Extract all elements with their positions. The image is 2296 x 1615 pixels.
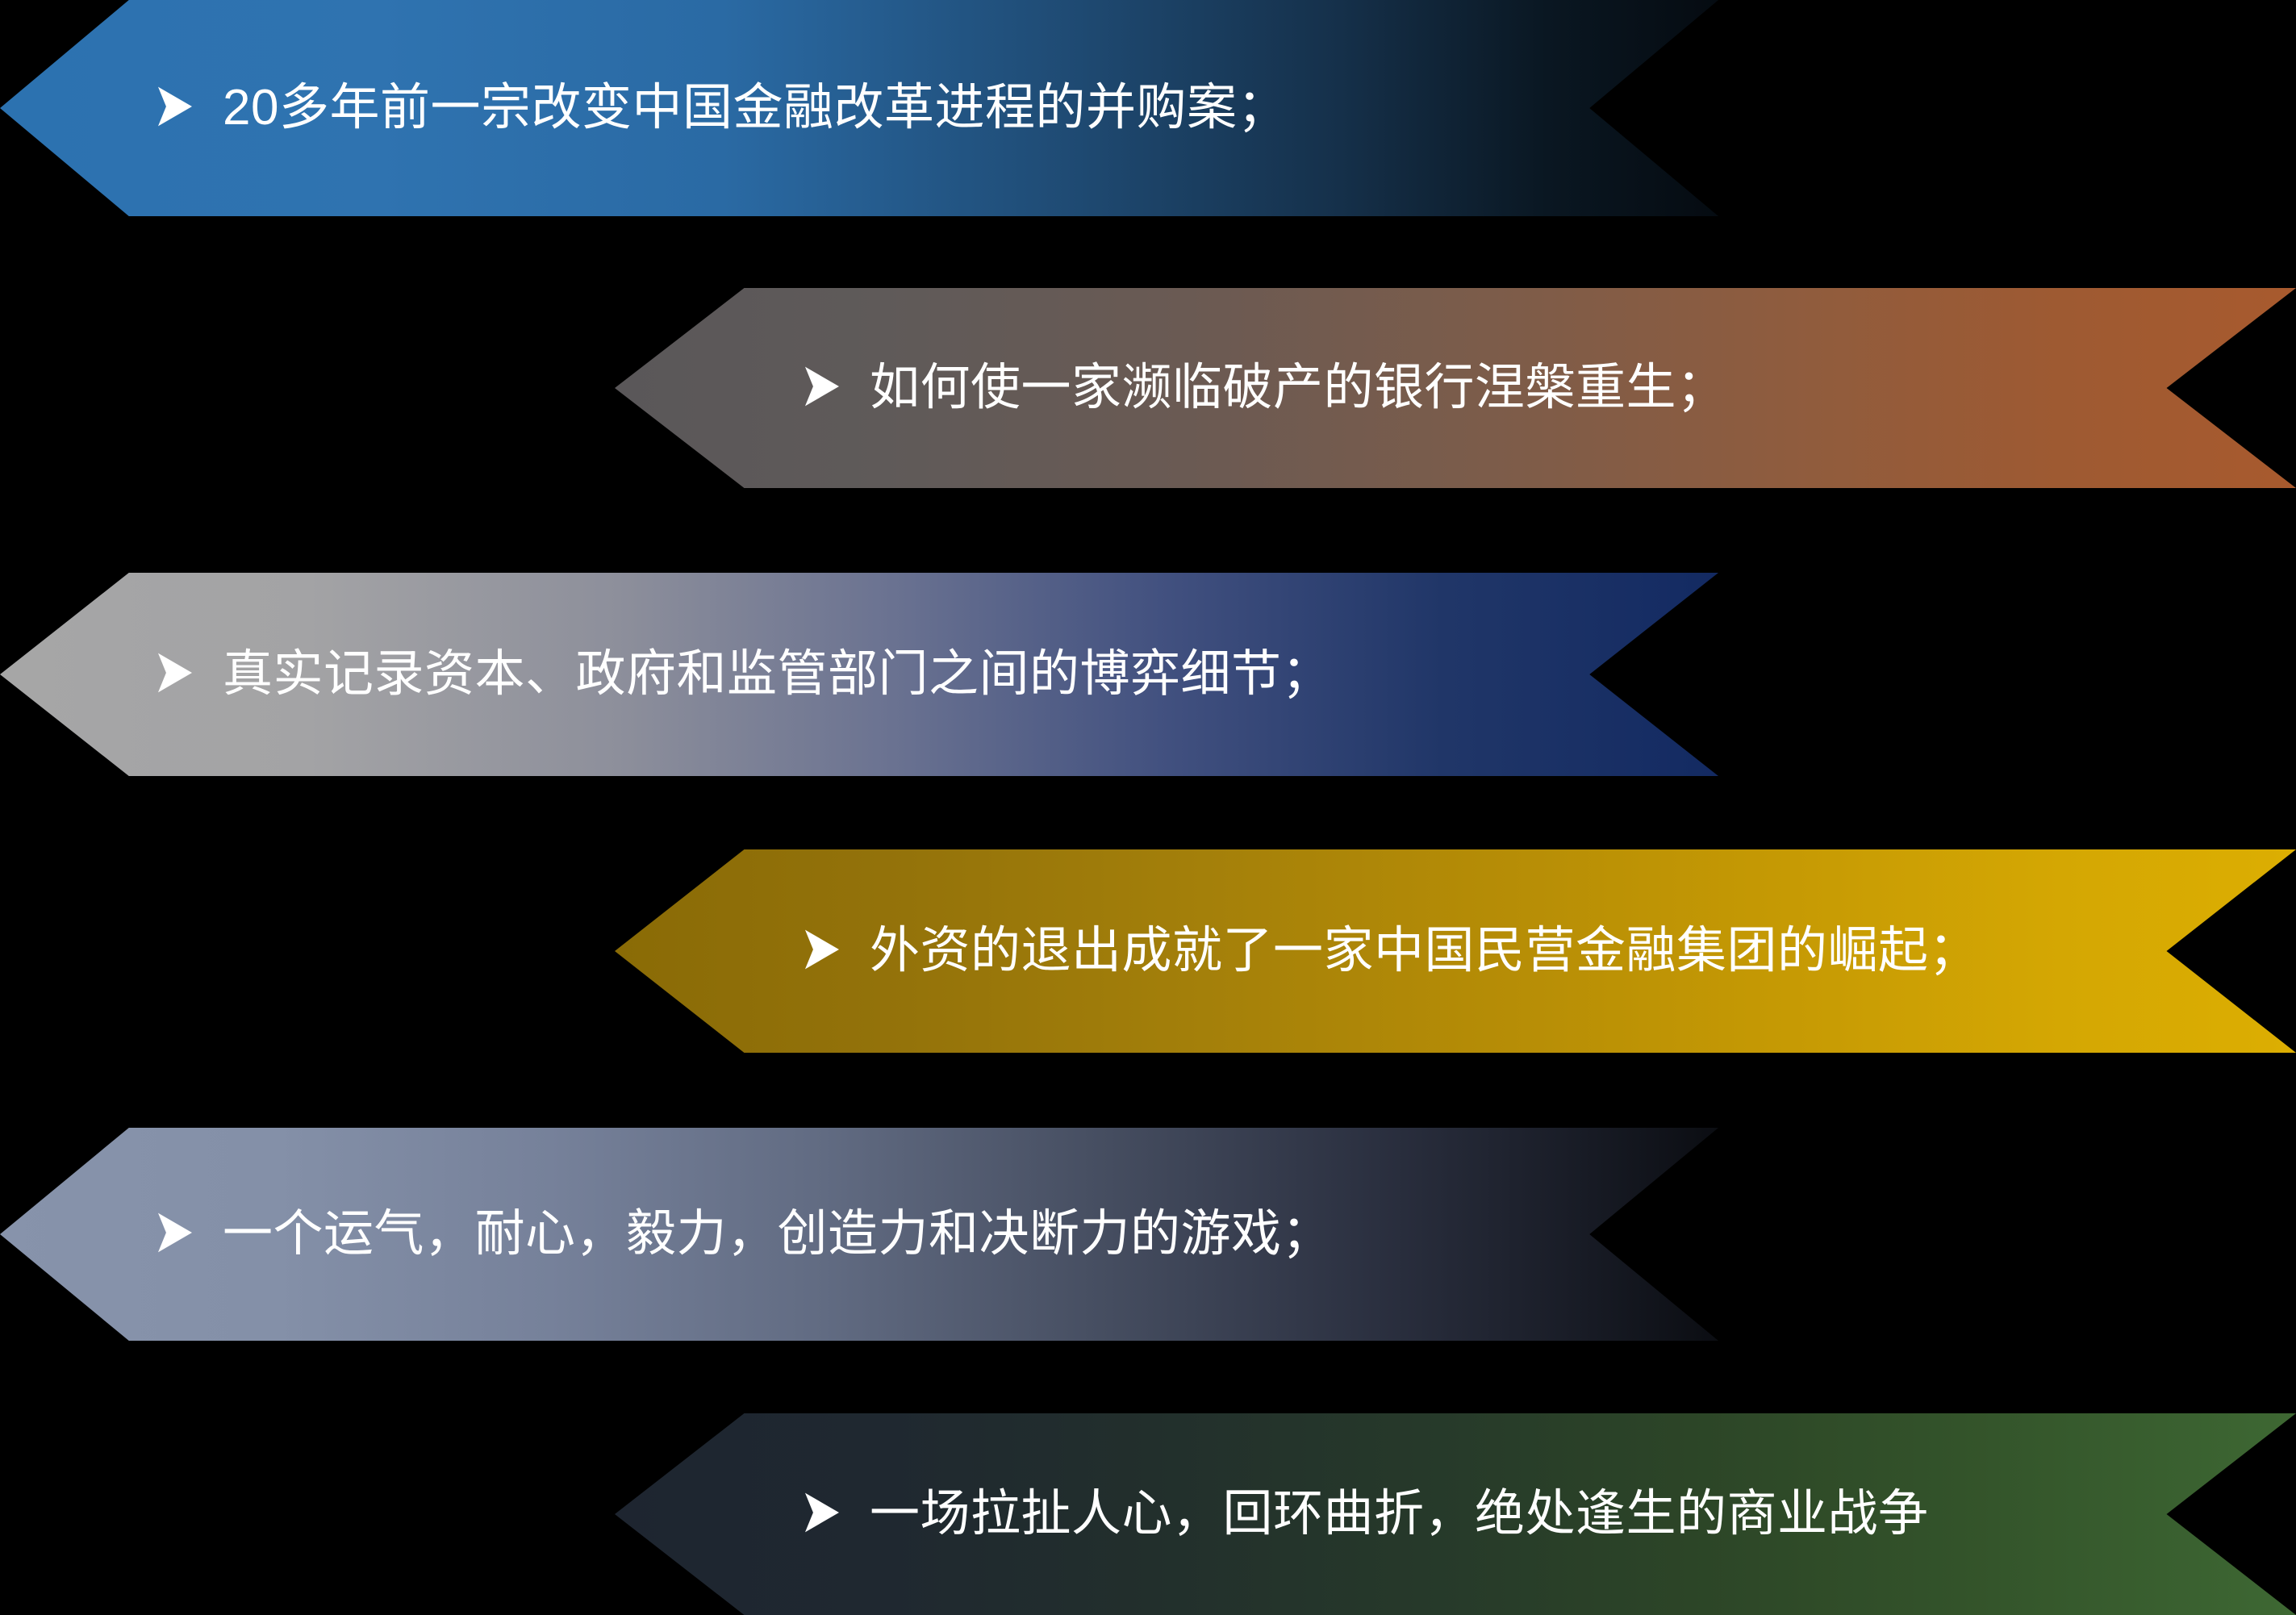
chevron-right-bullet-icon [800,927,842,972]
chevron-row-6-label: 一场拉扯人心，回环曲折，绝处逢生的商业战争 [870,1485,1929,1542]
chevron-right-bullet-icon [153,650,195,695]
chevron-row-6-body: 一场拉扯人心，回环曲折，绝处逢生的商业战争 [615,1413,2296,1615]
chevron-row-5-body: 一个运气，耐心，毅力，创造力和决断力的游戏； [0,1128,1718,1341]
chevron-right-bullet-icon [153,84,195,129]
chevron-row-2-label: 如何使一家濒临破产的银行涅槃重生； [870,359,1727,416]
chevron-row-1-body: 20多年前一宗改变中国金融改革进程的并购案； [0,0,1718,216]
chevron-row-3-label: 真实记录资本、政府和监管部门之间的博弈细节； [223,645,1332,703]
chevron-right-bullet-icon [800,364,842,409]
chevron-row-3-body: 真实记录资本、政府和监管部门之间的博弈细节； [0,573,1718,776]
slide-canvas: 20多年前一宗改变中国金融改革进程的并购案； 如何使一家濒临破产的银行涅槃重生；… [0,0,2296,1615]
chevron-row-4-body: 外资的退出成就了一家中国民营金融集团的崛起； [615,849,2296,1053]
chevron-row-4-label: 外资的退出成就了一家中国民营金融集团的崛起； [870,922,1979,979]
chevron-row-4[interactable]: 外资的退出成就了一家中国民营金融集团的崛起； [615,849,2296,1053]
chevron-row-1-label: 20多年前一宗改变中国金融改革进程的并购案； [223,79,1288,136]
chevron-row-5-label: 一个运气，耐心，毅力，创造力和决断力的游戏； [223,1205,1332,1262]
chevron-row-2-body: 如何使一家濒临破产的银行涅槃重生； [615,288,2296,488]
chevron-row-6[interactable]: 一场拉扯人心，回环曲折，绝处逢生的商业战争 [615,1413,2296,1615]
chevron-row-3[interactable]: 真实记录资本、政府和监管部门之间的博弈细节； [0,573,1718,776]
chevron-right-bullet-icon [153,1210,195,1255]
chevron-row-5[interactable]: 一个运气，耐心，毅力，创造力和决断力的游戏； [0,1128,1718,1341]
chevron-right-bullet-icon [800,1490,842,1535]
chevron-row-1[interactable]: 20多年前一宗改变中国金融改革进程的并购案； [0,0,1718,216]
chevron-row-2[interactable]: 如何使一家濒临破产的银行涅槃重生； [615,288,2296,488]
